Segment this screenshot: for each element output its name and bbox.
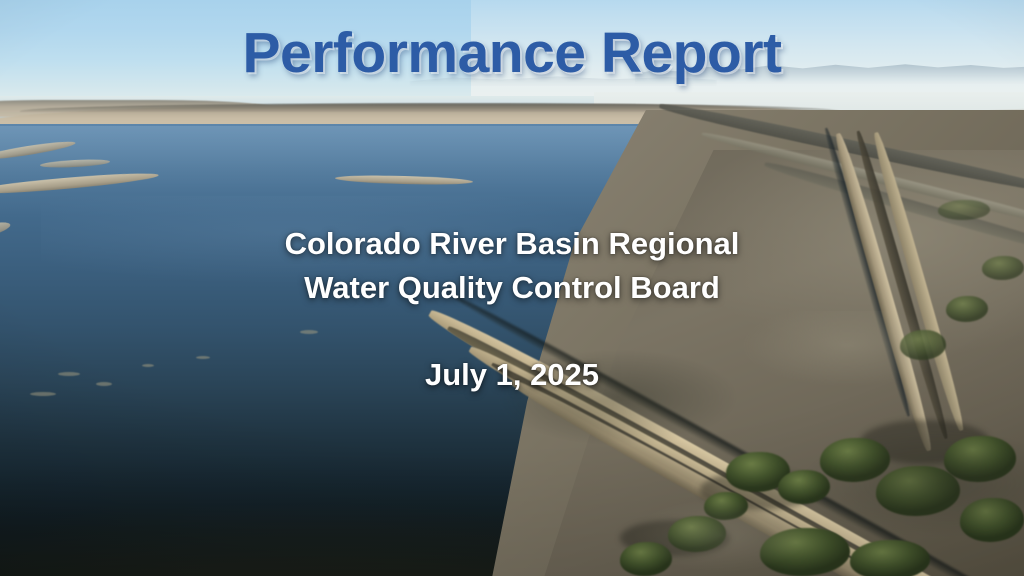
subtitle-line-1: Colorado River Basin Regional [0, 222, 1024, 266]
slide-subtitle: Colorado River Basin Regional Water Qual… [0, 222, 1024, 310]
presentation-slide: Performance Report Colorado River Basin … [0, 0, 1024, 576]
slide-text: Performance Report Colorado River Basin … [0, 0, 1024, 576]
subtitle-line-2: Water Quality Control Board [0, 266, 1024, 310]
page-title: Performance Report [0, 24, 1024, 84]
slide-date: July 1, 2025 [0, 357, 1024, 393]
